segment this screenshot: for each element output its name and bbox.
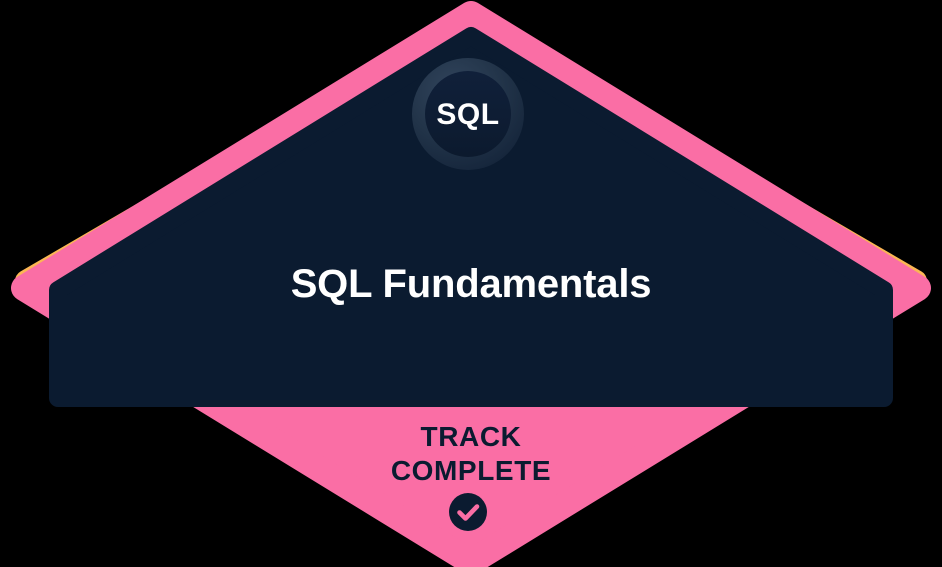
- badge-artwork: [0, 0, 942, 567]
- sql-chip-core: [425, 71, 511, 157]
- badge-stage: SQL SQL Fundamentals TRACK COMPLETE: [0, 0, 942, 567]
- check-circle-background: [449, 493, 487, 531]
